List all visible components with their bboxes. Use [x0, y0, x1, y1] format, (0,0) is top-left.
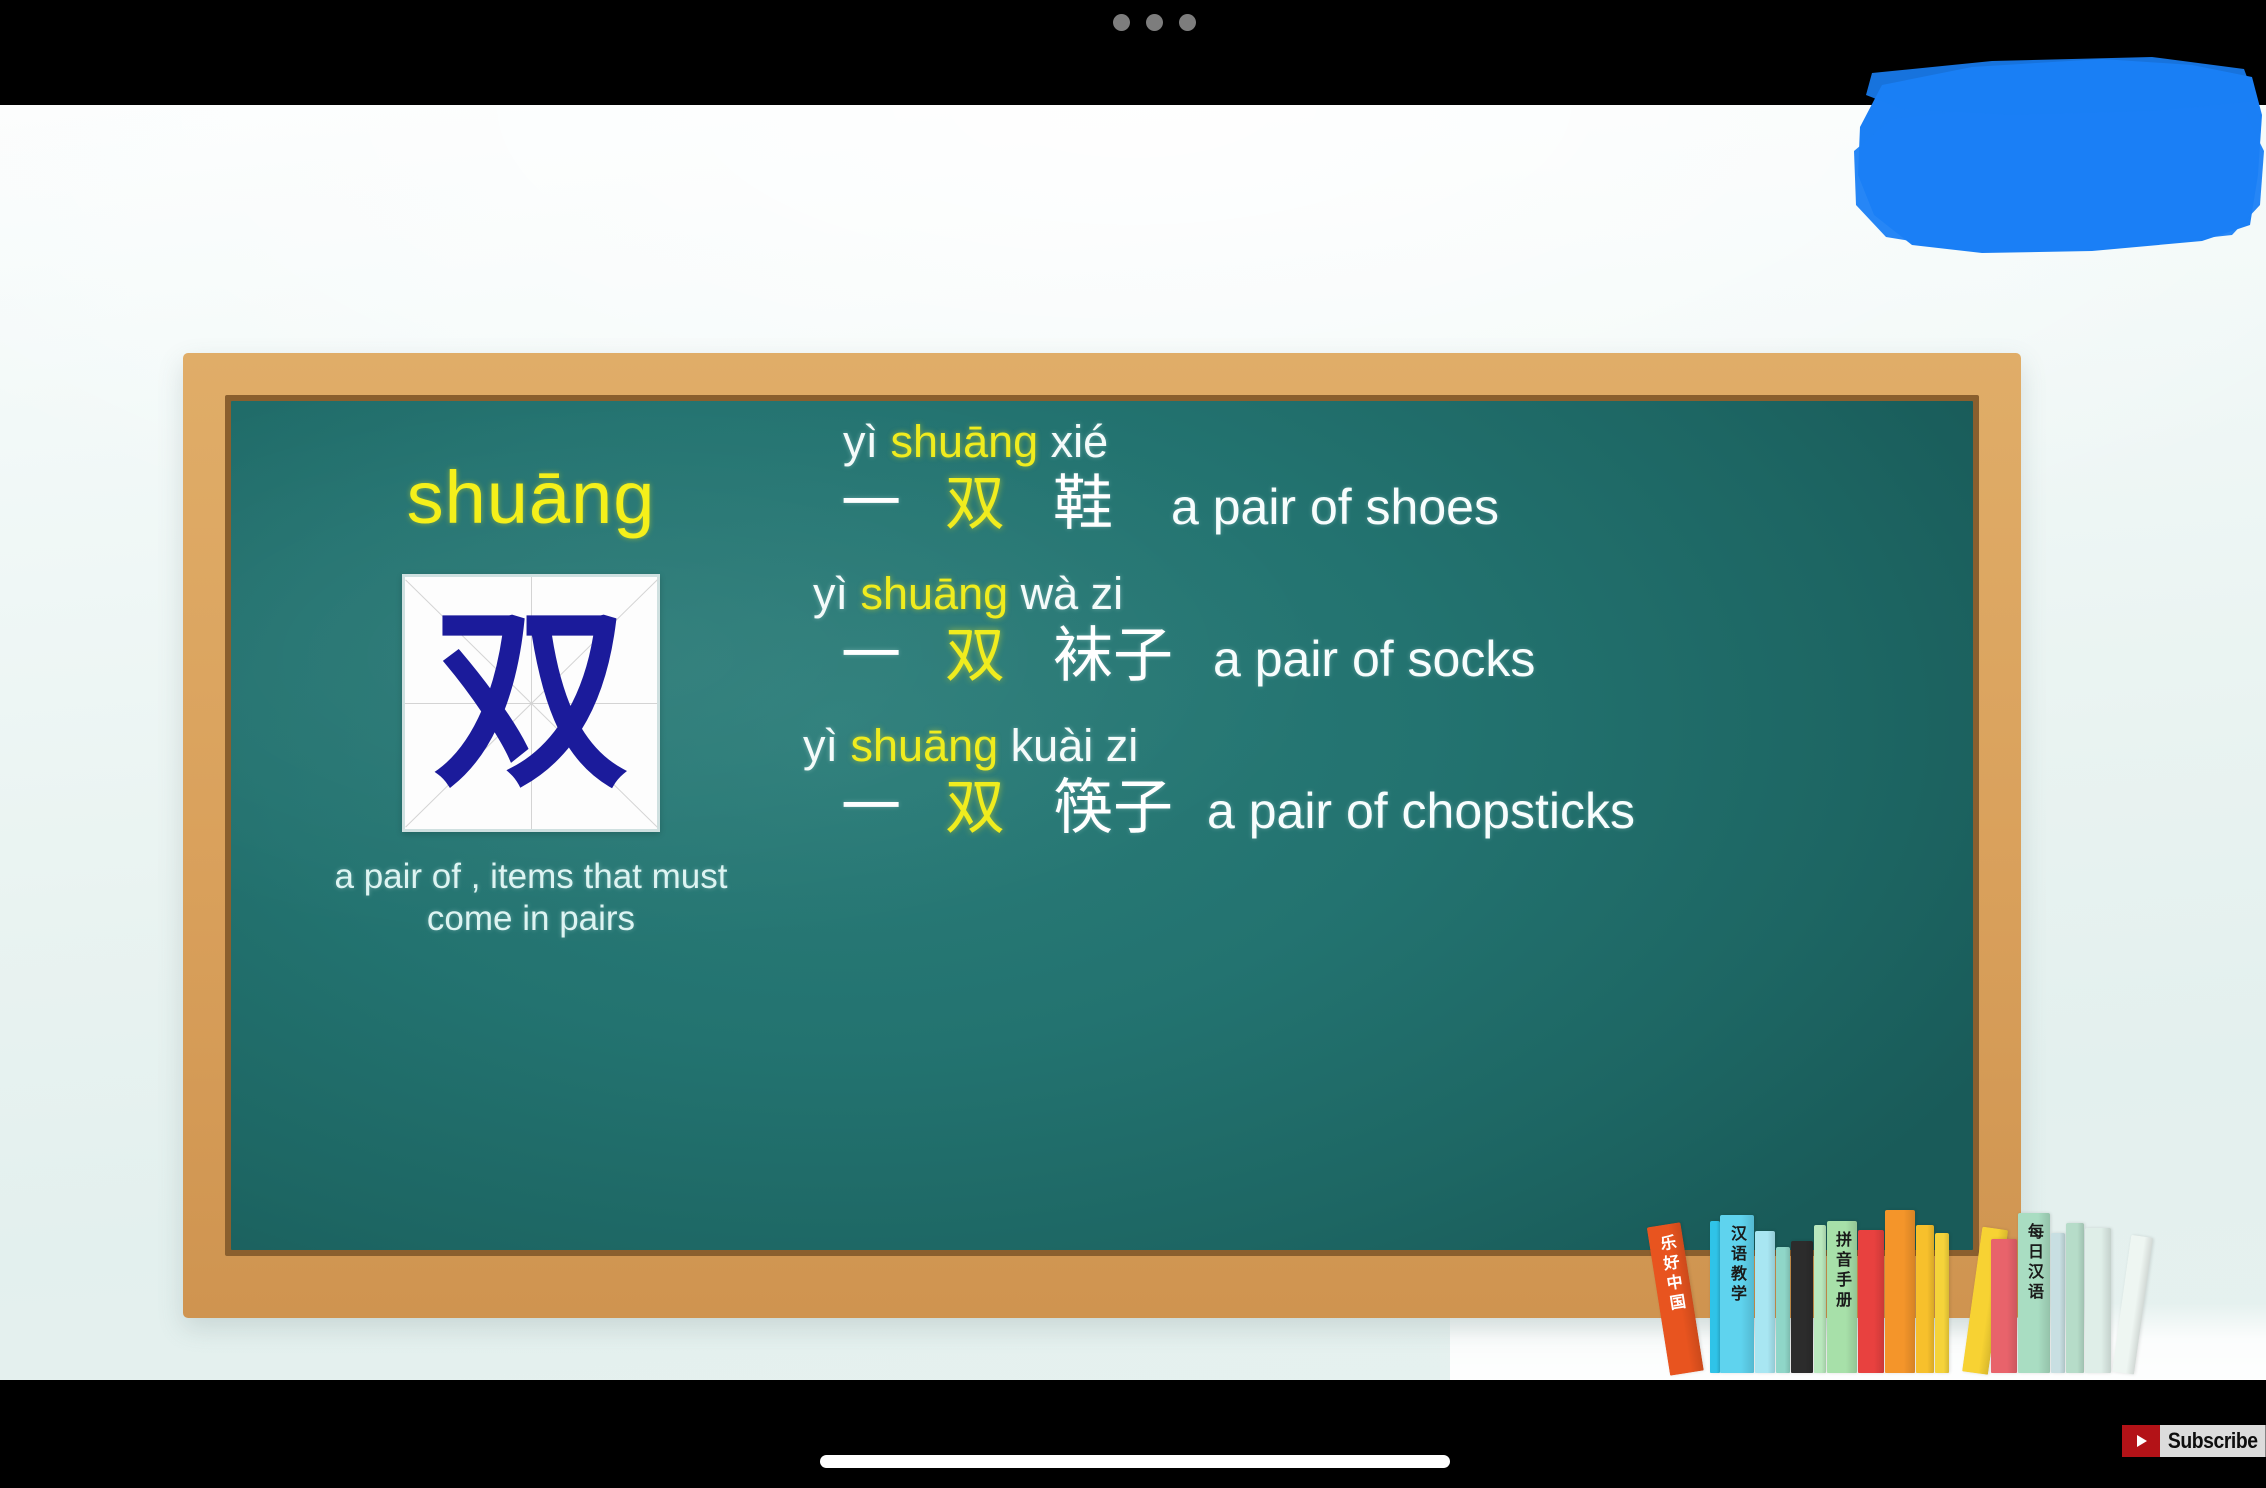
book-spine [2085, 1228, 2111, 1373]
example-hanzi-measure-word: 双 [945, 774, 1005, 843]
book-spine [2112, 1235, 2153, 1375]
more-dot-2 [1146, 14, 1163, 31]
example-hanzi-number: 一 [841, 470, 901, 539]
example-pinyin-suffix: xié [1038, 416, 1108, 467]
book-spine: 汉语教学 [1720, 1215, 1754, 1373]
example-english: a pair of shoes [1171, 479, 1499, 537]
book-spine [2066, 1223, 2084, 1373]
video-stage[interactable]: shuāng 双 a pair of , items that must com… [0, 105, 2266, 1380]
example-pinyin-suffix: wà zi [1008, 568, 1123, 619]
example-pinyin-prefix: yì [803, 720, 851, 771]
example-hanzi-number: 一 [841, 622, 901, 691]
example-line: 一双袜子 a pair of socks [791, 622, 1951, 691]
example-pinyin-prefix: yì [813, 568, 861, 619]
youtube-play-icon [2122, 1425, 2160, 1457]
more-horizontal-icon[interactable] [1113, 14, 1196, 31]
example-hanzi-noun: 袜子 [1053, 622, 1173, 691]
headword-panel: shuāng 双 a pair of , items that must com… [291, 421, 771, 939]
headword-definition: a pair of , items that must come in pair… [321, 856, 741, 939]
book-spine [1776, 1247, 1790, 1373]
book-spine [2051, 1233, 2065, 1373]
example-english: a pair of socks [1213, 631, 1535, 689]
book-spine [1916, 1225, 1934, 1373]
book-spine [1858, 1230, 1884, 1373]
navigation-bar [0, 1380, 2266, 1488]
headword-pinyin: shuāng [291, 457, 771, 538]
home-indicator[interactable] [820, 1455, 1450, 1468]
book-spine-title: 乐好中国 [1653, 1233, 1689, 1316]
example-hanzi-noun: 鞋 [1053, 470, 1113, 539]
decorative-books: 乐好中国汉语教学拼音手册每日汉语 [1670, 1210, 2230, 1373]
example-pinyin: yì shuāng wà zi [791, 567, 1951, 622]
chalkboard-frame: shuāng 双 a pair of , items that must com… [183, 353, 2021, 1318]
book-spine [1710, 1221, 1720, 1373]
example-pinyin-suffix: kuài zi [998, 720, 1138, 771]
book-spine: 每日汉语 [2018, 1213, 2050, 1373]
book-spine [1814, 1225, 1826, 1373]
example-hanzi: 一双袜子 [791, 622, 1173, 691]
book-spine: 拼音手册 [1827, 1221, 1857, 1373]
book-spine [1791, 1241, 1813, 1373]
example-hanzi-noun: 筷子 [1053, 774, 1173, 843]
example-pinyin-prefix: yì [843, 416, 891, 467]
example-pinyin-keyword: shuāng [861, 568, 1009, 619]
example-line: 一双筷子 a pair of chopsticks [791, 774, 1951, 843]
subscribe-label: Subscribe [2160, 1425, 2265, 1457]
example-pinyin-keyword: shuāng [851, 720, 999, 771]
example-line: 一双鞋 a pair of shoes [791, 470, 1951, 539]
example-english: a pair of chopsticks [1207, 783, 1635, 841]
more-dot-1 [1113, 14, 1130, 31]
example-hanzi-measure-word: 双 [945, 470, 1005, 539]
status-bar [0, 0, 2266, 105]
example-row: yì shuāng kuài zi 一双筷子 a pair of chopsti… [791, 719, 1951, 843]
book-spine [1935, 1233, 1949, 1373]
example-row: yì shuāng xié 一双鞋 a pair of shoes [791, 415, 1951, 539]
more-dot-3 [1179, 14, 1196, 31]
book-spine [1885, 1210, 1915, 1373]
example-hanzi-number: 一 [841, 774, 901, 843]
chalkboard-surface: shuāng 双 a pair of , items that must com… [231, 401, 1973, 1250]
character-practice-box: 双 [402, 574, 660, 832]
example-pinyin: yì shuāng xié [791, 415, 1951, 470]
book-spine-title: 每日汉语 [2022, 1223, 2046, 1303]
play-triangle-icon [2137, 1435, 2147, 1447]
book-spine-title: 汉语教学 [1725, 1225, 1749, 1305]
book-spine-title: 拼音手册 [1830, 1231, 1854, 1311]
example-hanzi: 一双鞋 [791, 470, 1113, 539]
example-hanzi: 一双筷子 [791, 774, 1173, 843]
book-spine [1755, 1231, 1775, 1373]
example-pinyin: yì shuāng kuài zi [791, 719, 1951, 774]
example-row: yì shuāng wà zi 一双袜子 a pair of socks [791, 567, 1951, 691]
subscribe-button[interactable]: Subscribe [2122, 1425, 2266, 1457]
headword-character: 双 [405, 577, 657, 829]
example-pinyin-keyword: shuāng [891, 416, 1039, 467]
example-hanzi-measure-word: 双 [945, 622, 1005, 691]
book-spine [1991, 1239, 2017, 1373]
example-list: yì shuāng xié 一双鞋 a pair of shoes yì shu… [791, 415, 1951, 843]
